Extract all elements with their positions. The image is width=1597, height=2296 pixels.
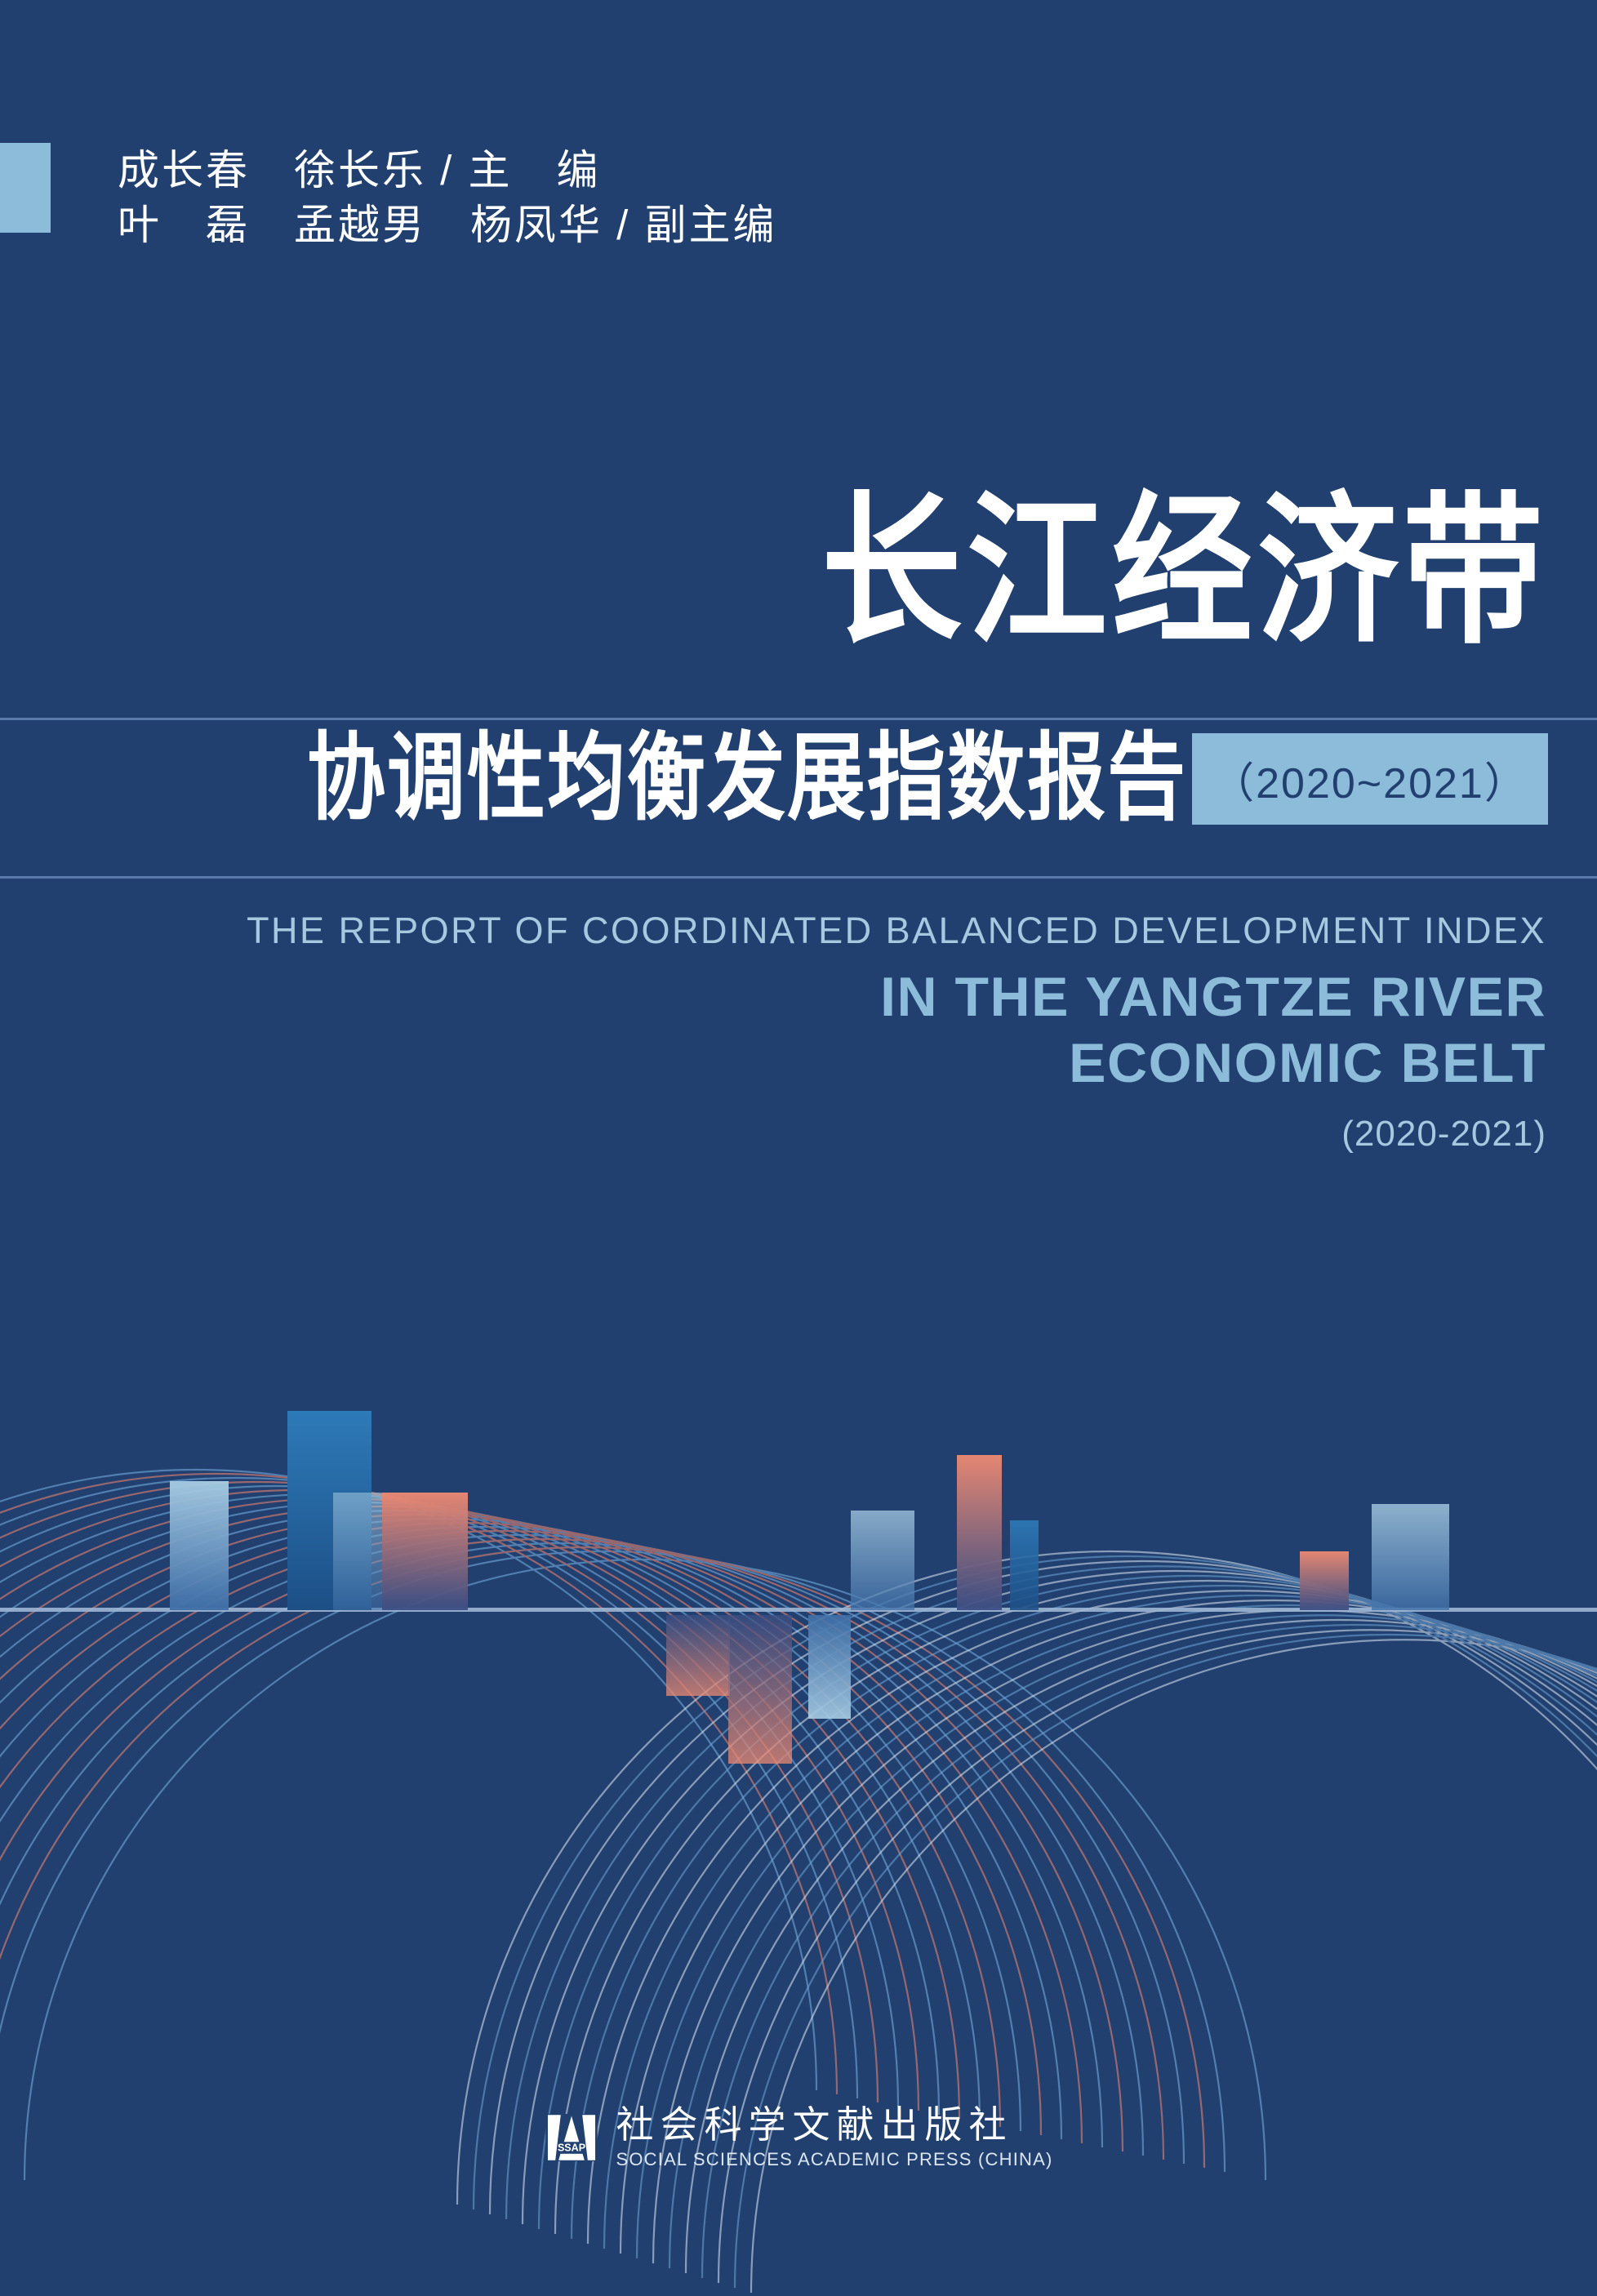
arc-family-right bbox=[457, 1551, 1597, 2293]
bar-group-down bbox=[666, 1615, 851, 1764]
page-title: 长江经济带 bbox=[821, 490, 1548, 653]
chart-baseline bbox=[0, 1608, 1597, 1612]
publisher-block: SSAP 社会科学文献出版社 SOCIAL SCIENCES ACADEMIC … bbox=[0, 2105, 1597, 2170]
bar-b10 bbox=[666, 1615, 730, 1696]
editor-marker-square bbox=[0, 143, 51, 233]
editors-block: 成长春 徐长乐 / 主 编 叶 磊 孟越男 杨凤华 / 副主编 bbox=[0, 143, 777, 253]
svg-text:SSAP: SSAP bbox=[557, 2142, 585, 2154]
bar-b11 bbox=[728, 1615, 792, 1764]
book-cover: 成长春 徐长乐 / 主 编 叶 磊 孟越男 杨凤华 / 副主编 长江经济带 协调… bbox=[0, 0, 1597, 2296]
bar-b6 bbox=[957, 1455, 1002, 1610]
bar-b9 bbox=[1372, 1504, 1449, 1610]
english-title-line-2: ECONOMIC BELT bbox=[247, 1031, 1546, 1096]
bar-b8 bbox=[1300, 1551, 1349, 1610]
ssap-logo-icon: SSAP bbox=[545, 2111, 598, 2165]
bar-b3 bbox=[333, 1493, 382, 1610]
year-range-badge: （2020~2021） bbox=[1192, 733, 1548, 825]
bar-b12 bbox=[808, 1615, 851, 1719]
publisher-text: 社会科学文献出版社 SOCIAL SCIENCES ACADEMIC PRESS… bbox=[616, 2105, 1053, 2170]
bar-b7 bbox=[1010, 1520, 1039, 1610]
bar-b2 bbox=[287, 1411, 371, 1610]
bar-b4 bbox=[382, 1493, 468, 1610]
bar-b1 bbox=[170, 1481, 229, 1610]
publisher-name-en: SOCIAL SCIENCES ACADEMIC PRESS (CHINA) bbox=[616, 2149, 1053, 2170]
arc-family-left bbox=[0, 1470, 1266, 2180]
bar-b5 bbox=[851, 1511, 914, 1610]
bar-group-up bbox=[170, 1411, 1449, 1610]
divider-line-top bbox=[0, 718, 1597, 720]
english-subtitle: THE REPORT OF COORDINATED BALANCED DEVEL… bbox=[247, 908, 1546, 954]
subtitle-row: 协调性均衡发展指数报告 （2020~2021） bbox=[307, 733, 1548, 825]
chief-editors-line: 成长春 徐长乐 / 主 编 bbox=[118, 143, 777, 198]
editor-names: 成长春 徐长乐 / 主 编 叶 磊 孟越男 杨凤华 / 副主编 bbox=[118, 143, 777, 253]
associate-editors-line: 叶 磊 孟越男 杨凤华 / 副主编 bbox=[118, 198, 777, 252]
publisher-name-cn: 社会科学文献出版社 bbox=[616, 2105, 1053, 2144]
subtitle-chinese: 协调性均衡发展指数报告 bbox=[307, 731, 1190, 826]
divider-line-bottom bbox=[0, 876, 1597, 879]
english-title-line-1: IN THE YANGTZE RIVER bbox=[247, 965, 1546, 1030]
english-year-range: (2020-2021) bbox=[247, 1114, 1546, 1155]
english-title-block: THE REPORT OF COORDINATED BALANCED DEVEL… bbox=[247, 908, 1546, 1155]
